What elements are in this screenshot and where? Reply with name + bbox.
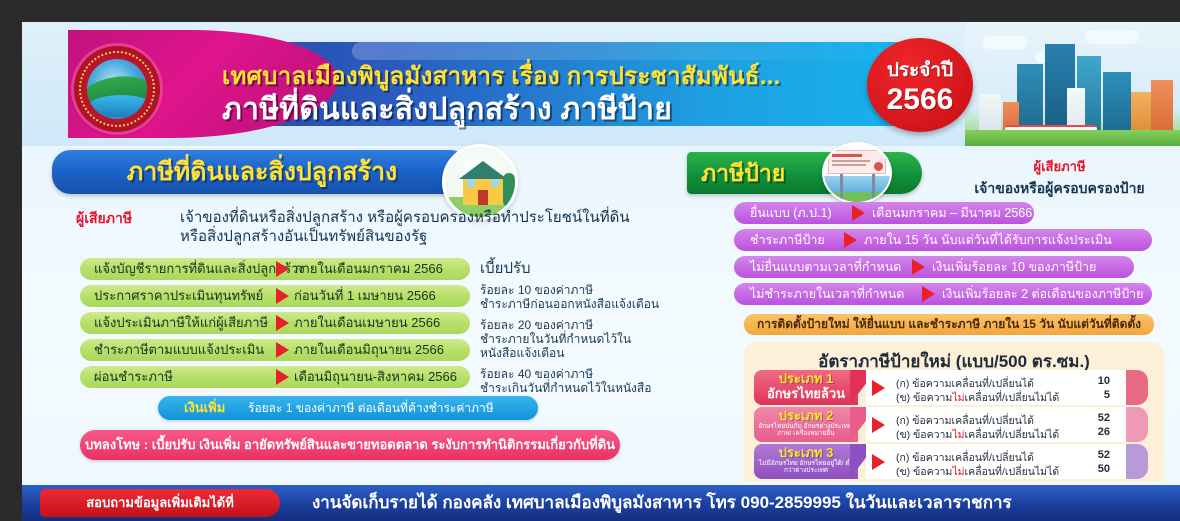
- land-schedule-value: ภายในเดือนมกราคม 2566: [294, 258, 443, 280]
- year-badge: ประจำปี 2566: [867, 38, 973, 132]
- municipality-seal-logo: [74, 46, 160, 132]
- signboard-schedule-row: ชำระภาษีป้ายภายใน 15 วัน นับแต่วันที่ได้…: [734, 229, 1152, 251]
- signboard-schedule-label: ไม่ชำระภายในเวลาที่กำหนด: [750, 283, 904, 305]
- rate-type-number: ประเภท 1: [754, 370, 858, 386]
- land-tax-title: ภาษีที่ดินและสิ่งปลูกสร้าง: [52, 150, 472, 194]
- rate-type-number: ประเภท 2: [754, 407, 858, 423]
- land-schedule-label: แจ้งประเมินภาษีให้แก่ผู้เสียภาษี: [94, 312, 268, 334]
- land-schedule-row: ประกาศราคาประเมินทุนทรัพย์ก่อนวันที่ 1 เ…: [80, 285, 470, 307]
- poster-footer: สอบถามข้อมูลเพิ่มเติมได้ที่ งานจัดเก็บรา…: [22, 485, 1180, 521]
- fine-rate: ร้อยละ 40 ของค่าภาษี: [480, 367, 665, 381]
- signboard-schedule-value: เงินเพิ่มร้อยละ 2 ต่อเดือนของภาษีป้าย: [942, 283, 1144, 305]
- contact-pill-text: สอบถามข้อมูลเพิ่มเติมได้ที่: [40, 489, 280, 517]
- arrow-icon: [872, 380, 885, 396]
- seal-emblem: [87, 59, 147, 119]
- land-schedule-label: ชำระภาษีตามแบบแจ้งประเมิน: [94, 339, 264, 361]
- land-schedule-list: แจ้งบัญชีรายการที่ดินและสิ่งปลูกสร้างภาย…: [80, 258, 470, 393]
- rate-type-body: (ก) ข้อความเคลื่อนที่/เปลี่ยนได้52(ข) ข้…: [866, 407, 1136, 442]
- rate-line: (ข) ข้อความไม่เคลื่อนที่/เปลี่ยนไม่ได้: [896, 463, 1059, 480]
- fine-item: ร้อยละ 10 ของค่าภาษีชำระภาษีก่อนออกหนังส…: [480, 283, 665, 311]
- signboard-rate-table: อัตราภาษีป้ายใหม่ (แบบ/500 ตร.ซม.) ประเภ…: [744, 342, 1164, 482]
- signboard-schedule-value: เดือนมกราคม – มีนาคม 2566: [872, 202, 1032, 224]
- signboard-schedule-value: ภายใน 15 วัน นับแต่วันที่ได้รับการแจ้งปร…: [864, 229, 1112, 251]
- year-label: ประจำปี: [867, 55, 973, 85]
- signboard-schedule-row: ยื่นแบบ (ภ.ป.1)เดือนมกราคม – มีนาคม 2566: [734, 202, 1034, 224]
- header-line-2: ภาษีที่ดินและสิ่งปลูกสร้าง ภาษีป้าย: [222, 86, 882, 133]
- arrow-icon: [276, 315, 289, 331]
- signboard-tax-section: ภาษีป้าย ผู้เสียภาษี เจ้าของหรือผู้ครอบค…: [662, 146, 1180, 485]
- signboard-schedule-label: ชำระภาษีป้าย: [750, 229, 825, 251]
- signboard-schedule-label: ยื่นแบบ (ภ.ป.1): [750, 202, 832, 224]
- rate-row-cap: [1126, 407, 1148, 442]
- signboard-payer-text: เจ้าของหรือผู้ครอบครองป้าย: [942, 178, 1177, 200]
- penalty-text: บทลงโทษ : เบี้ยปรับ เงินเพิ่ม อายัดทรัพย…: [80, 430, 620, 460]
- rate-type-row: ประเภท 1อักษรไทยล้วน(ก) ข้อความเคลื่อนที…: [754, 370, 1154, 405]
- rate-amount: 5: [1104, 389, 1110, 401]
- fine-item: ร้อยละ 20 ของค่าภาษีชำระภายในวันที่กำหนด…: [480, 318, 665, 360]
- rate-row-cap: [1126, 370, 1148, 405]
- city-skyline-illustration: [965, 22, 1180, 146]
- land-schedule-row: ชำระภาษีตามแบบแจ้งประเมินภายในเดือนมิถุน…: [80, 339, 470, 361]
- rate-type-number: ประเภท 3: [754, 444, 858, 460]
- land-tax-title-banner: ภาษีที่ดินและสิ่งปลูกสร้าง: [52, 150, 472, 194]
- signboard-title: ภาษีป้าย: [701, 152, 785, 194]
- contact-pill: สอบถามข้อมูลเพิ่มเติมได้ที่: [40, 489, 280, 517]
- fine-condition: ชำระภายในวันที่กำหนดไว้ในหนังสือแจ้งเตือ…: [480, 332, 665, 360]
- rate-amount: 52: [1098, 412, 1110, 424]
- fine-rate: ร้อยละ 10 ของค่าภาษี: [480, 283, 665, 297]
- rate-type-body: (ก) ข้อความเคลื่อนที่/เปลี่ยนได้52(ข) ข้…: [866, 444, 1136, 479]
- land-schedule-label: ประกาศราคาประเมินทุนทรัพย์: [94, 285, 263, 307]
- rate-amount: 10: [1098, 375, 1110, 387]
- billboard-icon: [822, 142, 892, 204]
- land-payer-label: ผู้เสียภาษี: [76, 208, 176, 230]
- surcharge-label: เงินเพิ่ม: [184, 396, 225, 420]
- surcharge-bar: เงินเพิ่ม ร้อยละ 1 ของค่าภาษี ต่อเดือนที…: [158, 396, 538, 420]
- land-schedule-label: ผ่อนชำระภาษี: [94, 366, 173, 388]
- fine-rate: ร้อยละ 20 ของค่าภาษี: [480, 318, 665, 332]
- arrow-icon: [922, 286, 935, 302]
- contact-info-text: งานจัดเก็บรายได้ กองคลัง เทศบาลเมืองพิบู…: [312, 485, 1012, 521]
- rate-type-tag: ประเภท 1อักษรไทยล้วน: [754, 370, 858, 405]
- rate-type-tag: ประเภท 3ไม่มีอักษรไทย อักษรไทยอยู่ใต้/ ต…: [754, 444, 858, 479]
- land-schedule-value: เดือนมิถุนายน-สิงหาคม 2566: [294, 366, 457, 388]
- rate-type-tag: ประเภท 2อักษรไทยปนกับ อักษรต่างประเทศ/ภา…: [754, 407, 858, 442]
- signboard-note-text: การติดตั้งป้ายใหม่ ให้ยื่นแบบ และชำระภาษ…: [744, 314, 1154, 335]
- rate-line: (ข) ข้อความไม่เคลื่อนที่/เปลี่ยนไม่ได้: [896, 426, 1059, 443]
- arrow-icon: [872, 454, 885, 470]
- surcharge-text: ร้อยละ 1 ของค่าภาษี ต่อเดือนที่ค้างชำระค…: [248, 396, 494, 420]
- land-schedule-value: ก่อนวันที่ 1 เมษายน 2566: [294, 285, 436, 307]
- signboard-schedule-value: เงินเพิ่มร้อยละ 10 ของภาษีป้าย: [932, 256, 1096, 278]
- land-schedule-value: ภายในเดือนมิถุนายน 2566: [294, 339, 444, 361]
- year-value: 2566: [867, 85, 973, 115]
- poster-body: ภาษีที่ดินและสิ่งปลูกสร้าง ผู้เสียภาษี เ…: [22, 146, 1180, 485]
- arrow-icon: [276, 288, 289, 304]
- land-payer-row: ผู้เสียภาษี เจ้าของที่ดินหรือสิ่งปลูกสร้…: [76, 208, 656, 246]
- rate-amount: 50: [1098, 463, 1110, 475]
- rate-type-name: อักษรไทยล้วน: [754, 386, 858, 401]
- land-fines-block: เบี้ยปรับ ร้อยละ 10 ของค่าภาษีชำระภาษีก่…: [480, 256, 665, 416]
- arrow-icon: [872, 417, 885, 433]
- signboard-schedule-row: ไม่ยื่นแบบตามเวลาที่กำหนดเงินเพิ่มร้อยละ…: [734, 256, 1134, 278]
- signboard-schedule-label: ไม่ยื่นแบบตามเวลาที่กำหนด: [750, 256, 901, 278]
- land-schedule-row: แจ้งประเมินภาษีให้แก่ผู้เสียภาษีภายในเดื…: [80, 312, 470, 334]
- rate-line: (ข) ข้อความไม่เคลื่อนที่/เปลี่ยนไม่ได้: [896, 389, 1059, 406]
- fines-title: เบี้ยปรับ: [480, 256, 665, 280]
- signboard-schedule-list: ยื่นแบบ (ภ.ป.1)เดือนมกราคม – มีนาคม 2566…: [734, 202, 1164, 310]
- signboard-payer-block: ผู้เสียภาษี เจ้าของหรือผู้ครอบครองป้าย: [942, 156, 1177, 200]
- arrow-icon: [276, 369, 289, 385]
- rate-type-row: ประเภท 2อักษรไทยปนกับ อักษรต่างประเทศ/ภา…: [754, 407, 1154, 442]
- land-payer-text: เจ้าของที่ดินหรือสิ่งปลูกสร้าง หรือผู้คร…: [180, 208, 656, 246]
- rate-type-sub: ไม่มีอักษรไทย อักษรไทยอยู่ใต้/ ต่ำกว่าต่…: [754, 460, 858, 474]
- rate-amount: 26: [1098, 426, 1110, 438]
- signboard-note-bar: การติดตั้งป้ายใหม่ ให้ยื่นแบบ และชำระภาษ…: [744, 314, 1154, 335]
- poster: เทศบาลเมืองพิบูลมังสาหาร เรื่อง การประชา…: [22, 22, 1180, 521]
- arrow-icon: [276, 342, 289, 358]
- arrow-icon: [852, 205, 865, 221]
- rate-type-body: (ก) ข้อความเคลื่อนที่/เปลี่ยนได้10(ข) ข้…: [866, 370, 1136, 405]
- land-schedule-value: ภายในเดือนเมษายน 2566: [294, 312, 440, 334]
- fine-condition: ชำระภาษีก่อนออกหนังสือแจ้งเตือน: [480, 297, 665, 311]
- seal-wave-blue: [89, 95, 147, 117]
- rate-amount: 52: [1098, 449, 1110, 461]
- penalty-bar: บทลงโทษ : เบี้ยปรับ เงินเพิ่ม อายัดทรัพย…: [80, 430, 620, 460]
- arrow-icon: [276, 261, 289, 277]
- rate-type-sub: อักษรไทยปนกับ อักษรต่างประเทศ/ภาพ/ เครื่…: [754, 423, 858, 437]
- signboard-schedule-row: ไม่ชำระภายในเวลาที่กำหนดเงินเพิ่มร้อยละ …: [734, 283, 1152, 305]
- land-schedule-row: ผ่อนชำระภาษีเดือนมิถุนายน-สิงหาคม 2566: [80, 366, 470, 388]
- land-tax-section: ภาษีที่ดินและสิ่งปลูกสร้าง ผู้เสียภาษี เ…: [22, 146, 662, 485]
- signboard-payer-label: ผู้เสียภาษี: [942, 156, 1177, 177]
- arrow-icon: [912, 259, 925, 275]
- rate-row-cap: [1126, 444, 1148, 479]
- land-schedule-label: แจ้งบัญชีรายการที่ดินและสิ่งปลูกสร้าง: [94, 258, 305, 280]
- rate-type-row: ประเภท 3ไม่มีอักษรไทย อักษรไทยอยู่ใต้/ ต…: [754, 444, 1154, 479]
- arrow-icon: [844, 232, 857, 248]
- land-schedule-row: แจ้งบัญชีรายการที่ดินและสิ่งปลูกสร้างภาย…: [80, 258, 470, 280]
- poster-header: เทศบาลเมืองพิบูลมังสาหาร เรื่อง การประชา…: [22, 22, 1180, 146]
